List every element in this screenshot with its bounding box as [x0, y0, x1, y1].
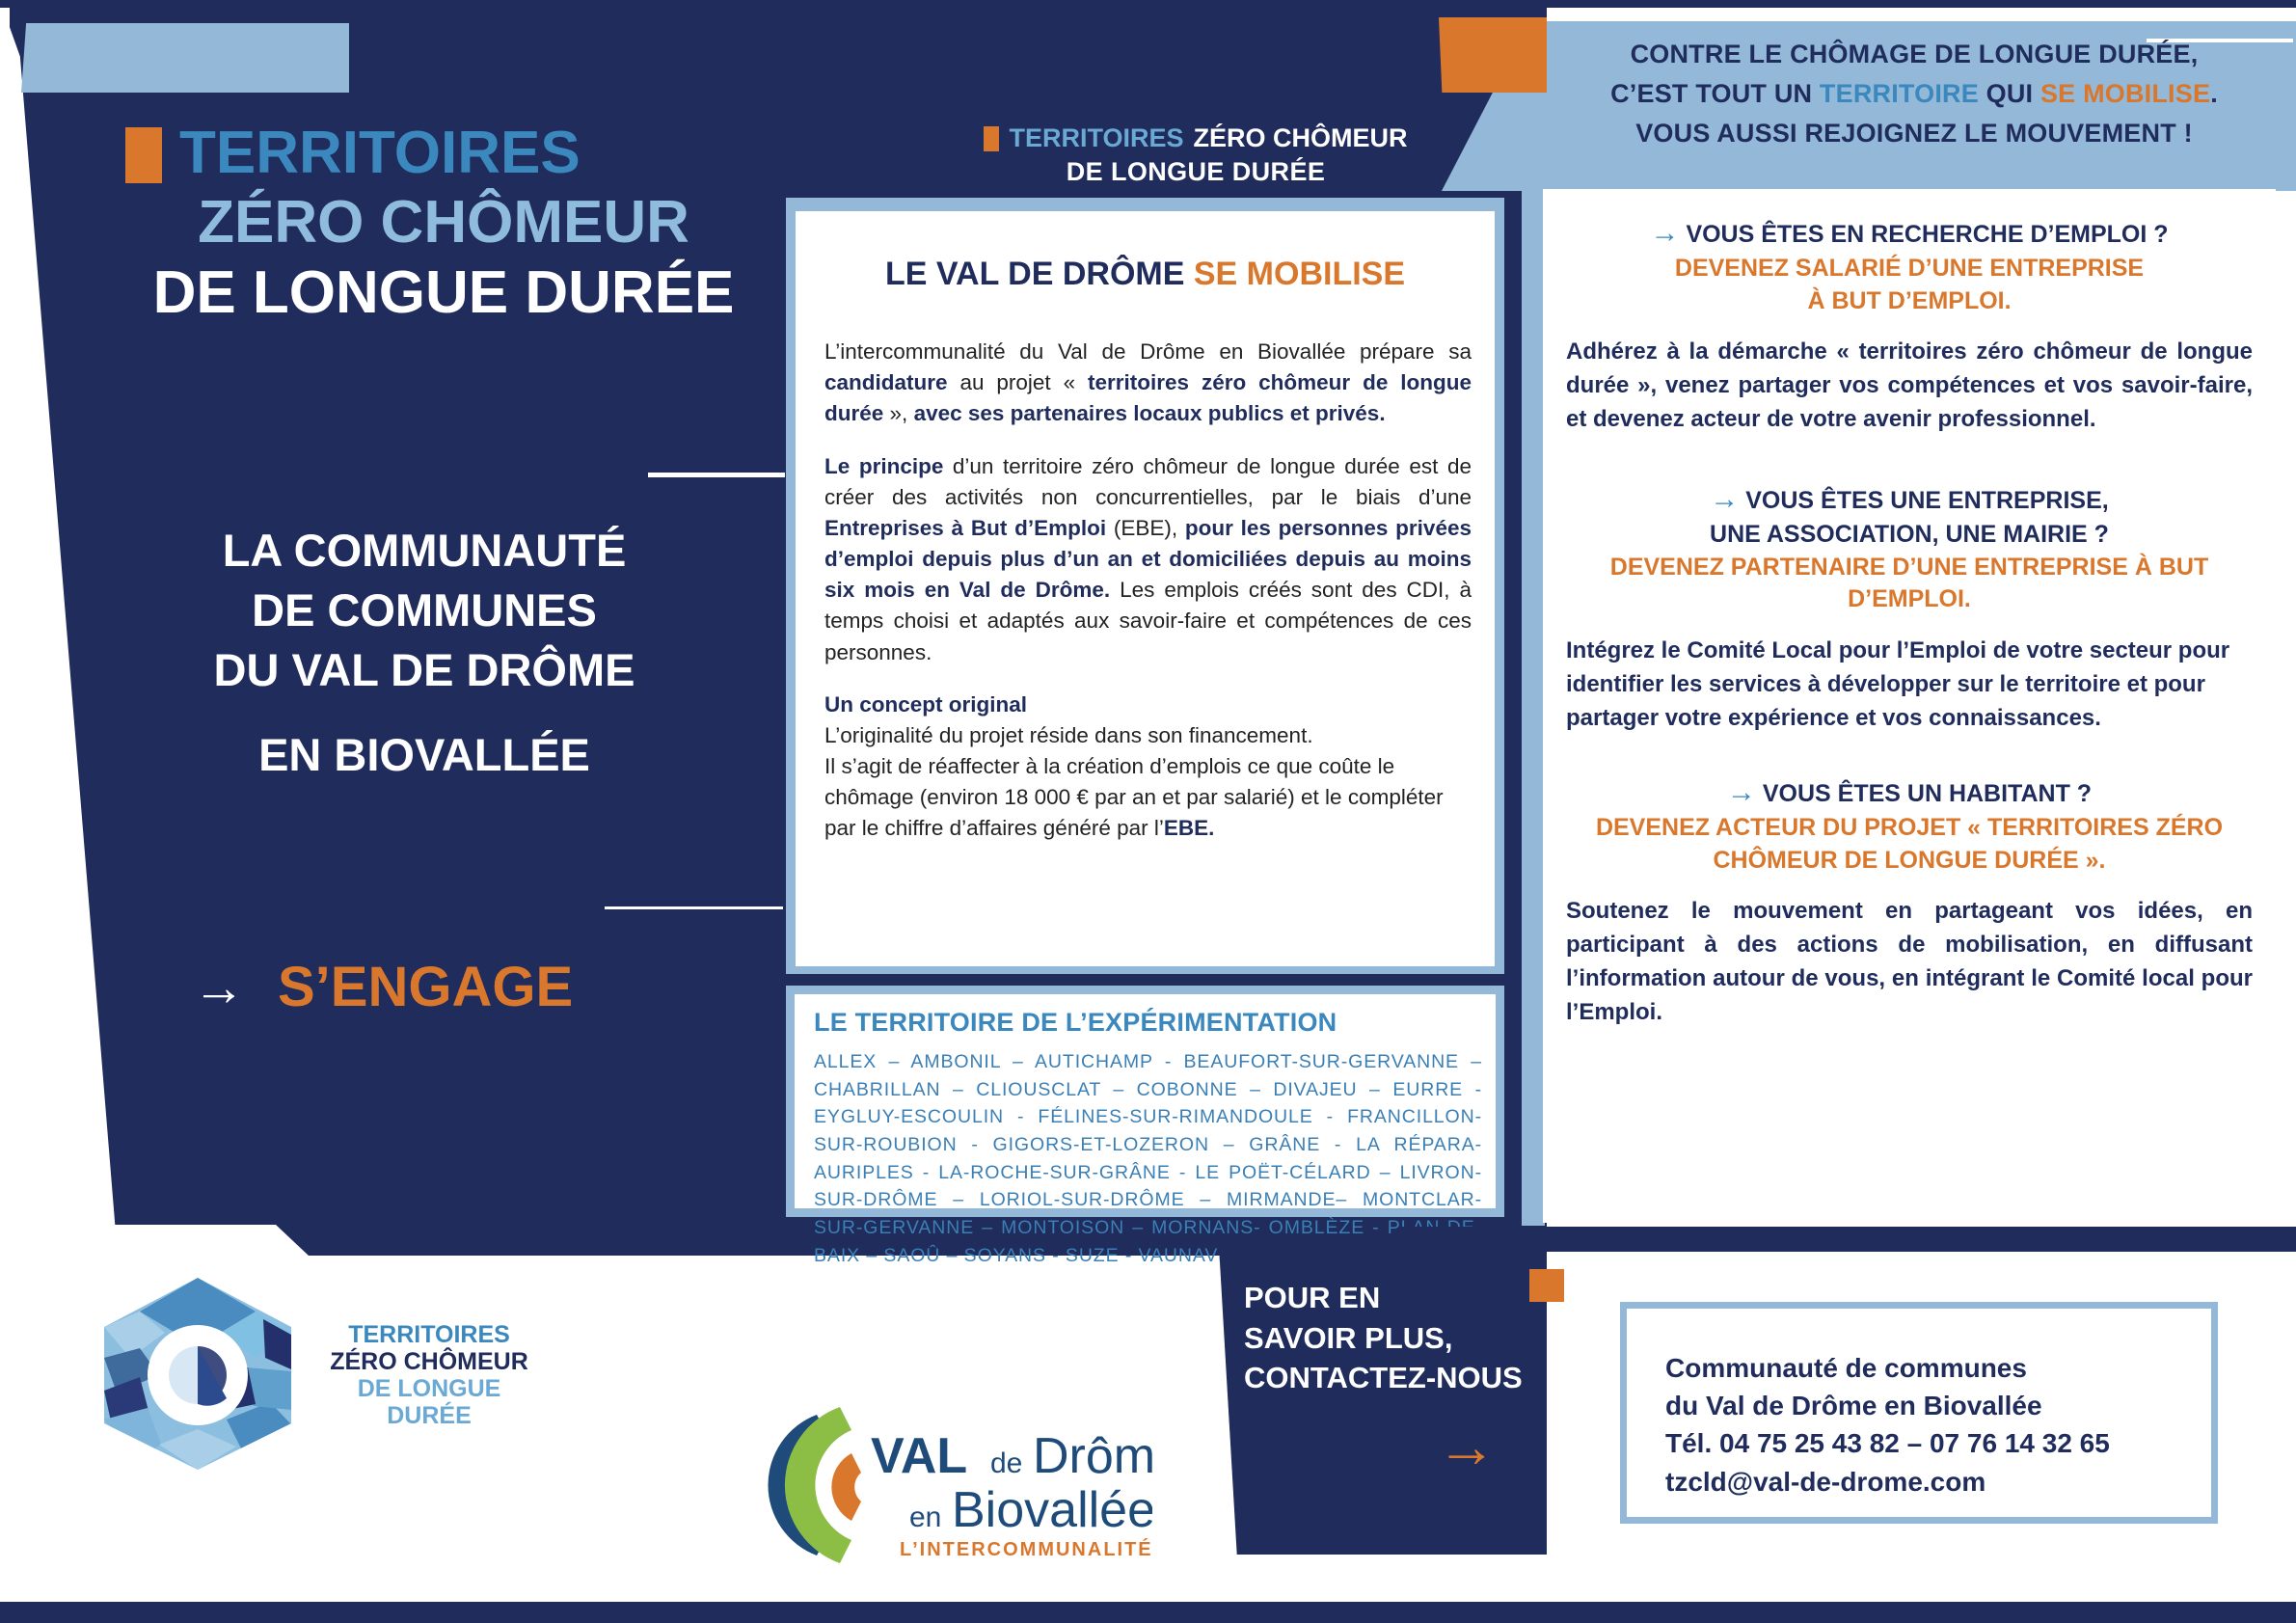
val-de-drome-logo: VAL de Drôme en Biovallée L’INTERCOMMUNA… [747, 1393, 1152, 1577]
header-slogan-line1: CONTRE LE CHÔMAGE DE LONGUE DURÉE, [1543, 35, 2285, 74]
p1-b1: candidature [824, 370, 948, 394]
cta-company: → VOUS ÊTES UNE ENTREPRISE, UNE ASSOCIAT… [1566, 436, 2253, 735]
mid-brand-b: ZÉRO CHÔMEUR [1194, 123, 1408, 153]
main-panel-paragraph-1: L’intercommunalité du Val de Drôme en Bi… [824, 337, 1472, 430]
p2-b2: Entreprises à But d’Emploi [824, 516, 1106, 540]
bottom-navy-baseline [0, 1602, 2296, 1623]
p1-t2: au projet « [948, 370, 1088, 394]
main-panel-title-b: SE MOBILISE [1194, 256, 1405, 292]
cta-job-seeker-head: → VOUS ÊTES EN RECHERCHE D’EMPLOI ? [1566, 214, 2253, 253]
header-orange-square [1439, 17, 1547, 93]
brand-line-1: TERRITOIRES [179, 123, 581, 183]
main-panel-paragraph-2: Le principe d’un territoire zéro chômeur… [824, 451, 1472, 668]
contact-details: Communauté de communes du Val de Drôme e… [1665, 1349, 2192, 1501]
svg-text:Drôme: Drôme [1033, 1428, 1152, 1484]
orange-square-small-icon [984, 126, 999, 151]
main-panel-title-a: LE VAL DE DRÔME [885, 256, 1194, 292]
orange-square-icon [125, 127, 162, 183]
p3-t2: Il s’agit de réaffecter à la création d’… [824, 754, 1444, 840]
contact-box-frame: Communauté de communes du Val de Drôme e… [1620, 1302, 2218, 1524]
territory-communes-list: ALLEX – AMBONIL – AUTICHAMP - BEAUFORT-S… [814, 1048, 1482, 1269]
main-panel-frame: LE VAL DE DRÔME SE MOBILISE L’intercommu… [786, 198, 1504, 974]
community-title: LA COMMUNAUTÉ DE COMMUNES DU VAL DE DRÔM… [87, 521, 762, 785]
tzcld-logo-line-4: DURÉE [313, 1402, 545, 1429]
mid-brand-a: TERRITOIRES [1009, 123, 1183, 153]
arrow-right-icon: → [1710, 483, 1739, 515]
tzcld-hexagon-logo [101, 1275, 294, 1473]
brand-line-3: DE LONGUE DURÉE [125, 259, 762, 326]
svg-text:L’INTERCOMMUNALITÉ: L’INTERCOMMUNALITÉ [900, 1538, 1152, 1560]
bottom-navy-strip [1398, 1227, 2296, 1252]
top-left-blue-tab [21, 23, 349, 93]
engage-callout: → S’ENGAGE [193, 955, 694, 1019]
cta-resident-head-text: VOUS ÊTES UN HABITANT ? [1763, 780, 2092, 807]
p1-t3: », [883, 401, 907, 425]
header-slogan-line3: VOUS AUSSI REJOIGNEZ LE MOUVEMENT ! [1543, 114, 2285, 153]
tzcld-logo-line-3: DE LONGUE [313, 1375, 545, 1402]
cta-company-body: Intégrez le Comité Local pour l’Emploi d… [1566, 634, 2253, 735]
territory-panel: LE TERRITOIRE DE L’EXPÉRIMENTATION ALLEX… [795, 994, 1496, 1208]
p3-t1: L’originalité du projet réside dans son … [824, 723, 1313, 747]
cta-company-sub: DEVENEZ PARTENAIRE D’UNE ENTREPRISE À BU… [1566, 552, 2253, 616]
brand-line-1-row: TERRITOIRES [125, 123, 762, 183]
tzcld-logo-line-2: ZÉRO CHÔMEUR [313, 1348, 545, 1375]
left-divider-top [648, 473, 785, 477]
territory-frame: LE TERRITOIRE DE L’EXPÉRIMENTATION ALLEX… [786, 986, 1504, 1217]
p2-b1: Le principe [824, 454, 943, 478]
p3-b1: Un concept original [824, 692, 1027, 717]
contact-box: Communauté de communes du Val de Drôme e… [1627, 1309, 2211, 1517]
cta-resident-body: Soutenez le mouvement en partageant vos … [1566, 894, 2253, 1029]
svg-text:de: de [990, 1447, 1022, 1479]
right-column: → VOUS ÊTES EN RECHERCHE D’EMPLOI ? DEVE… [1543, 189, 2276, 1223]
tzcld-logo-wordmark: TERRITOIRES ZÉRO CHÔMEUR DE LONGUE DURÉE [313, 1321, 545, 1429]
community-line-1: LA COMMUNAUTÉ [87, 521, 762, 581]
svg-text:VAL: VAL [871, 1428, 967, 1484]
cta-company-head: → VOUS ÊTES UNE ENTREPRISE, UNE ASSOCIAT… [1566, 480, 2253, 552]
header-l2e: . [2210, 79, 2218, 108]
contact-line-2: du Val de Drôme en Biovallée [1665, 1387, 2192, 1424]
contact-callout-label: POUR EN SAVOIR PLUS, CONTACTEZ-NOUS [1244, 1278, 1533, 1398]
left-white-edge [0, 8, 10, 1602]
main-panel-body: L’intercommunalité du Val de Drôme en Bi… [824, 337, 1472, 866]
header-slogan: CONTRE LE CHÔMAGE DE LONGUE DURÉE, C’EST… [1543, 35, 2285, 153]
svg-text:en: en [909, 1501, 941, 1533]
header-l2d: SE MOBILISE [2040, 79, 2210, 108]
contact-email[interactable]: tzcld@val-de-drome.com [1665, 1463, 2192, 1501]
brand-line-2: ZÉRO CHÔMEUR [125, 189, 762, 256]
hexagon-logo-icon [101, 1275, 294, 1473]
cta-job-seeker-head-text: VOUS ÊTES EN RECHERCHE D’EMPLOI ? [1686, 221, 2168, 248]
header-l2c: QUI [1979, 79, 2040, 108]
cta-job-seeker-sub: DEVENEZ SALARIÉ D’UNE ENTREPRISE À BUT D… [1566, 253, 2253, 317]
mid-brand-row2: DE LONGUE DURÉE [926, 157, 1466, 187]
right-column-blue-bar [1522, 181, 1545, 1226]
arrow-right-icon: → [193, 961, 245, 1014]
poster-canvas: CONTRE LE CHÔMAGE DE LONGUE DURÉE, C’EST… [0, 0, 2296, 1623]
header-l2b: TERRITOIRE [1820, 79, 1979, 108]
contact-line-1: Communauté de communes [1665, 1349, 2192, 1387]
main-panel-title: LE VAL DE DRÔME SE MOBILISE [796, 256, 1495, 293]
contact-line-3: Tél. 04 75 25 43 82 – 07 76 14 32 65 [1665, 1424, 2192, 1462]
arrow-right-icon: → [1727, 776, 1756, 808]
cta-resident: → VOUS ÊTES UN HABITANT ? DEVENEZ ACTEUR… [1566, 735, 2253, 1029]
p1-b3: avec ses partenaires locaux publics et p… [907, 401, 1385, 425]
val-de-drome-logo-icon: VAL de Drôme en Biovallée L’INTERCOMMUNA… [747, 1393, 1152, 1577]
mid-brand-row1: TERRITOIRES ZÉRO CHÔMEUR [926, 123, 1466, 153]
community-line-4: EN BIOVALLÉE [87, 725, 762, 785]
left-divider-bottom [605, 906, 783, 909]
mid-brand-header: TERRITOIRES ZÉRO CHÔMEUR DE LONGUE DURÉE [926, 123, 1466, 187]
p1-t1: L’intercommunalité du Val de Drôme en Bi… [824, 339, 1472, 364]
engage-label: S’ENGAGE [278, 955, 573, 1019]
cta-company-head-text: VOUS ÊTES UNE ENTREPRISE, UNE ASSOCIATIO… [1710, 487, 2109, 548]
community-line-2: DE COMMUNES [87, 581, 762, 640]
bottom-orange-square [1529, 1269, 1564, 1302]
header-slogan-line2: C’EST TOUT UN TERRITOIRE QUI SE MOBILISE… [1543, 74, 2285, 114]
cta-resident-sub: DEVENEZ ACTEUR DU PROJET « TERRITOIRES Z… [1566, 812, 2253, 877]
main-panel: LE VAL DE DRÔME SE MOBILISE L’intercommu… [796, 211, 1495, 966]
header-l2a: C’EST TOUT UN [1610, 79, 1820, 108]
cta-job-seeker-body: Adhérez à la démarche « territoires zéro… [1566, 335, 2253, 436]
community-line-3: DU VAL DE DRÔME [87, 640, 762, 700]
p2-t2: (EBE), [1106, 516, 1185, 540]
cta-resident-head: → VOUS ÊTES UN HABITANT ? [1566, 773, 2253, 812]
brand-headline: TERRITOIRES ZÉRO CHÔMEUR DE LONGUE DURÉE [125, 123, 762, 327]
p3-b2: EBE. [1164, 816, 1215, 840]
territory-title: LE TERRITOIRE DE L’EXPÉRIMENTATION [814, 1008, 1486, 1038]
arrow-right-icon: → [1437, 1418, 1497, 1477]
svg-text:Biovallée: Biovallée [952, 1482, 1152, 1538]
tzcld-logo-line-1: TERRITOIRES [313, 1321, 545, 1348]
arrow-right-icon: → [1650, 217, 1679, 249]
main-panel-paragraph-3: Un concept originalL’originalité du proj… [824, 690, 1472, 845]
cta-job-seeker: → VOUS ÊTES EN RECHERCHE D’EMPLOI ? DEVE… [1566, 189, 2253, 436]
